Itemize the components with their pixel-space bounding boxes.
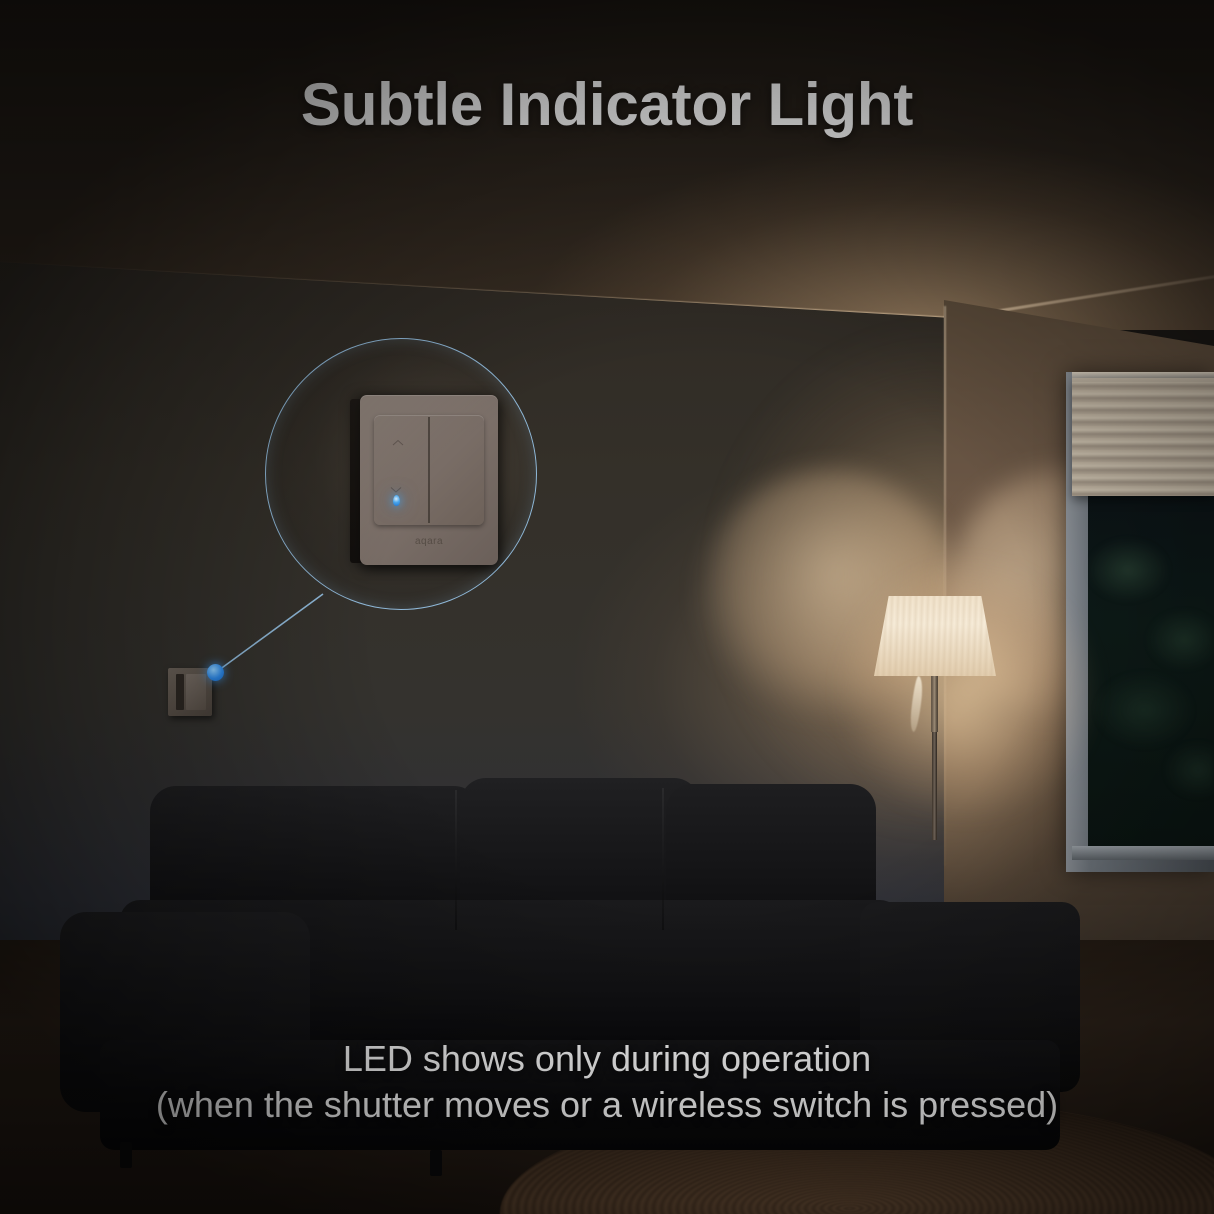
- wall-switch-rocker[interactable]: [176, 674, 184, 710]
- sofa-leg: [430, 1150, 442, 1176]
- caption-text: LED shows only during operation (when th…: [0, 1036, 1214, 1128]
- indicator-led: [393, 495, 400, 506]
- window-sill: [1072, 846, 1214, 860]
- brand-wordmark: aqara: [391, 535, 467, 548]
- window-night-foliage: [1088, 500, 1214, 852]
- window-shade-rail: [1072, 372, 1214, 382]
- product-feature-image: aqara Subtle Indicator Light LED shows o…: [0, 0, 1214, 1214]
- window-pleated-shade: [1072, 378, 1214, 496]
- page-title: Subtle Indicator Light: [0, 70, 1214, 139]
- wall-switch-face[interactable]: [186, 674, 206, 710]
- caption-line-1: LED shows only during operation: [343, 1038, 871, 1079]
- lamp-pole-upper: [931, 676, 938, 732]
- callout-marker-dot[interactable]: [207, 664, 224, 681]
- magnifier-circle: aqara: [265, 338, 537, 610]
- switch-down-arrow-icon: [390, 486, 402, 493]
- caption-line-2: (when the shutter moves or a wireless sw…: [0, 1082, 1214, 1128]
- callout-leader-line: [215, 592, 327, 674]
- lamp-shade-texture: [874, 596, 996, 676]
- switch-up-arrow-icon: [392, 439, 404, 447]
- sofa-seam: [455, 790, 457, 930]
- switch-rocker-divider: [428, 417, 430, 523]
- sofa-leg: [120, 1142, 132, 1168]
- sofa-seam: [662, 788, 664, 930]
